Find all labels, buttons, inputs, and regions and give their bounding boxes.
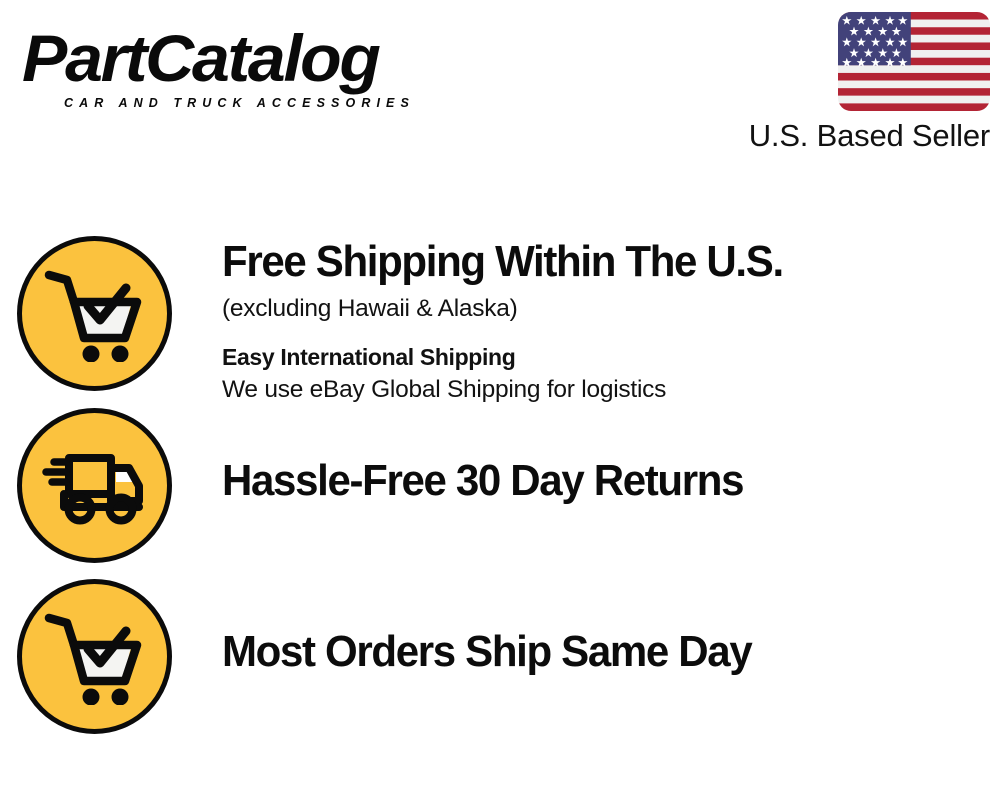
us-based-seller-badge: U.S. Based Seller <box>690 12 990 153</box>
feature-row: Free Shipping Within The U.S. (excluding… <box>0 236 1000 407</box>
feature-title: Hassle-Free 30 Day Returns <box>222 456 965 505</box>
feature-icon-wrap <box>0 579 200 734</box>
cart-check-glyph <box>43 266 147 362</box>
feature-subtitle-exclusions: (excluding Hawaii & Alaska) <box>222 293 1000 326</box>
feature-text: Free Shipping Within The U.S. (excluding… <box>200 236 1000 407</box>
feature-icon-wrap <box>0 408 200 563</box>
us-flag-icon <box>838 12 990 111</box>
feature-subtitle-logistics: We use eBay Global Shipping for logistic… <box>222 374 1000 407</box>
seller-info-banner: PartCatalog CAR AND TRUCK ACCESSORIES <box>0 0 1000 800</box>
feature-row: Hassle-Free 30 Day Returns <box>0 408 1000 563</box>
feature-subtitle-international: Easy International Shipping <box>222 342 1000 373</box>
delivery-truck-icon <box>17 408 172 563</box>
feature-text: Most Orders Ship Same Day <box>200 579 1000 676</box>
feature-title: Free Shipping Within The U.S. <box>222 237 965 286</box>
us-based-seller-label: U.S. Based Seller <box>690 120 990 153</box>
feature-row: Most Orders Ship Same Day <box>0 579 1000 734</box>
feature-text: Hassle-Free 30 Day Returns <box>200 408 1000 505</box>
us-flag-svg <box>838 12 990 111</box>
brand-tagline: CAR AND TRUCK ACCESSORIES <box>64 96 492 110</box>
brand-wordmark: PartCatalog <box>22 26 506 91</box>
banner-header: PartCatalog CAR AND TRUCK ACCESSORIES <box>0 0 1000 170</box>
feature-title: Most Orders Ship Same Day <box>222 627 965 676</box>
partcatalog-logo: PartCatalog CAR AND TRUCK ACCESSORIES <box>22 26 492 110</box>
shopping-cart-check-icon <box>17 236 172 391</box>
feature-icon-wrap <box>0 236 200 391</box>
cart-check-glyph <box>43 609 147 705</box>
shopping-cart-check-icon <box>17 579 172 734</box>
truck-glyph <box>40 444 150 528</box>
